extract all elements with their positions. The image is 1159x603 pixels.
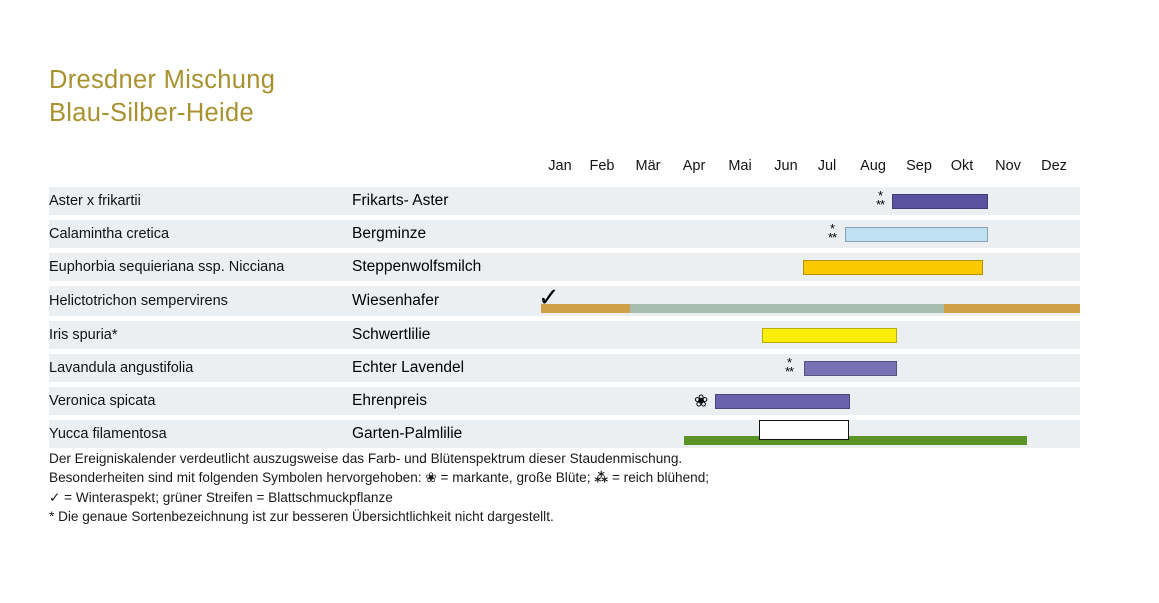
- legend-line-2-pre: Besonderheiten sind mit folgenden Symbol…: [49, 470, 425, 485]
- clover-icon: ***: [828, 224, 836, 244]
- table-row: Yucca filamentosaGarten-Palmlilie: [49, 420, 1080, 448]
- bloom-bars: [49, 354, 1080, 382]
- month-label-mai: Mai: [728, 158, 751, 174]
- month-label-okt: Okt: [951, 158, 974, 174]
- flower-icon: ❀: [694, 393, 708, 410]
- bloom-bars: [49, 286, 1080, 316]
- month-label-jun: Jun: [774, 158, 797, 174]
- foliage-bar: [630, 304, 944, 313]
- foliage-bar: [944, 304, 1080, 313]
- page-title-line-1: Dresdner Mischung: [49, 64, 275, 97]
- legend-line-1: Der Ereigniskalender verdeutlicht auszug…: [49, 449, 949, 468]
- month-header-row: JanFebMärAprMaiJunJulAugSepOktNovDez: [49, 158, 1080, 184]
- bloom-bar: [762, 328, 897, 343]
- bloom-bar: [892, 194, 988, 209]
- table-row: Calamintha creticaBergminze***: [49, 220, 1080, 248]
- bloom-bars: [49, 387, 1080, 415]
- bloom-bar: [803, 260, 983, 275]
- table-row: Aster x frikartiiFrikarts- Aster***: [49, 187, 1080, 215]
- table-row: Lavandula angustifoliaEchter Lavendel***: [49, 354, 1080, 382]
- plant-rows: Aster x frikartiiFrikarts- Aster***Calam…: [49, 187, 1080, 448]
- bloom-bars: [49, 420, 1080, 448]
- month-label-jul: Jul: [818, 158, 837, 174]
- legend-line-3: ✓ = Winteraspekt; grüner Streifen = Blat…: [49, 488, 949, 507]
- month-label-apr: Apr: [683, 158, 706, 174]
- clover-icon: ***: [876, 191, 884, 211]
- bloom-bars: [49, 187, 1080, 215]
- table-row: Helictotrichon sempervirensWiesenhafer✓: [49, 286, 1080, 316]
- page-title: Dresdner Mischung Blau-Silber-Heide: [49, 64, 275, 130]
- foliage-bar: [684, 436, 1027, 445]
- month-label-aug: Aug: [860, 158, 886, 174]
- table-row: Iris spuria*Schwertlilie: [49, 321, 1080, 349]
- table-row: Euphorbia sequieriana ssp. NiccianaStepp…: [49, 253, 1080, 281]
- check-icon: ✓: [538, 284, 560, 310]
- page-title-line-2: Blau-Silber-Heide: [49, 97, 275, 130]
- legend-line-2-mid: = markante, große Blüte;: [437, 470, 595, 485]
- bloom-bar: [804, 361, 897, 376]
- flower-icon: ❀: [425, 470, 436, 485]
- legend-block: Der Ereigniskalender verdeutlicht auszug…: [49, 449, 949, 526]
- bloom-outline-bar: [759, 420, 849, 440]
- clover-icon: ***: [785, 358, 793, 378]
- table-row: Veronica spicataEhrenpreis❀: [49, 387, 1080, 415]
- month-label-jan: Jan: [548, 158, 571, 174]
- bloom-bars: [49, 220, 1080, 248]
- legend-line-2-post: = reich blühend;: [608, 470, 709, 485]
- month-label-mär: Mär: [636, 158, 661, 174]
- month-label-dez: Dez: [1041, 158, 1067, 174]
- month-label-feb: Feb: [590, 158, 615, 174]
- bloom-bar: [715, 394, 850, 409]
- legend-line-2: Besonderheiten sind mit folgenden Symbol…: [49, 468, 949, 487]
- bloom-bar: [845, 227, 988, 242]
- bloom-calendar: JanFebMärAprMaiJunJulAugSepOktNovDez Ast…: [49, 158, 1080, 453]
- bloom-bars: [49, 253, 1080, 281]
- bloom-bars: [49, 321, 1080, 349]
- clover-icon: ⁂: [594, 470, 608, 485]
- month-label-sep: Sep: [906, 158, 932, 174]
- month-label-nov: Nov: [995, 158, 1021, 174]
- legend-line-4: * Die genaue Sortenbezeichnung ist zur b…: [49, 507, 949, 526]
